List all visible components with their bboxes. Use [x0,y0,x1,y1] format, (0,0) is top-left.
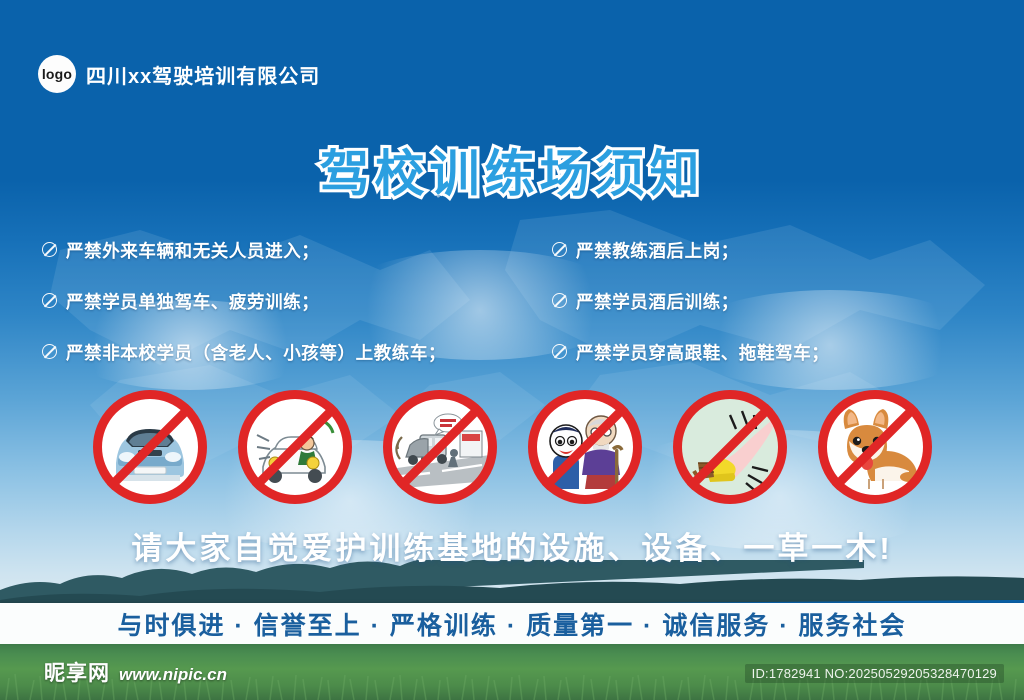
rule-text: 严禁外来车辆和无关人员进入； [66,238,319,263]
watermark-url: www.nipic.cn [119,665,227,685]
company-logo-icon: logo [38,55,76,93]
site-watermark: 昵享网 www.nipic.cn [44,657,227,687]
rule-text: 严禁学员酒后训练； [576,289,739,314]
rule-item: 严禁外来车辆和无关人员进入； [42,238,512,263]
prohibition-mark-icon [552,344,567,359]
company-name: 四川xx驾驶培训有限公司 [86,60,320,89]
rule-text: 严禁学员穿高跟鞋、拖鞋驾车； [576,340,829,365]
rule-item: 严禁学员酒后训练； [552,289,990,314]
prohibition-mark-icon [552,293,567,308]
bottom-banner: 与时俱进 · 信誉至上 · 严格训练 · 质量第一 · 诚信服务 · 服务社会 [0,603,1024,644]
rule-item: 严禁学员单独驾车、疲劳训练； [42,289,512,314]
poster-canvas: logo 四川xx驾驶培训有限公司 驾校训练场须知 严禁外来车辆和无关人员进入；… [0,0,1024,700]
image-id-code: ID:1782941 NO:20250529205328470129 [745,664,1004,683]
rules-column-left: 严禁外来车辆和无关人员进入； 严禁学员单独驾车、疲劳训练； 严禁非本校学员（含老… [34,238,512,391]
banner-slogan: 与时俱进 · 信誉至上 · 严格训练 · 质量第一 · 诚信服务 · 服务社会 [117,606,906,642]
rule-item: 严禁教练酒后上岗； [552,238,990,263]
no-high-heels-icon [671,388,789,506]
prohibition-mark-icon [42,242,57,257]
rule-item: 严禁非本校学员（含老人、小孩等）上教练车； [42,340,512,365]
prohibition-mark-icon [42,344,57,359]
no-pets-icon [816,388,934,506]
rules-column-right: 严禁教练酒后上岗； 严禁学员酒后训练； 严禁学员穿高跟鞋、拖鞋驾车； [512,238,990,391]
prohibition-mark-icon [552,242,567,257]
header-bar: logo 四川xx驾驶培训有限公司 [38,55,320,93]
rule-text: 严禁非本校学员（含老人、小孩等）上教练车； [66,340,446,365]
rule-text: 严禁教练酒后上岗； [576,238,739,263]
page-title-container: 驾校训练场须知 [0,134,1024,206]
no-elderly-children-icon [526,388,644,506]
watermark-brand: 昵享网 [44,657,110,687]
care-slogan: 请大家自觉爱护训练基地的设施、设备、一草一木! [0,523,1024,568]
no-fatigue-training-icon [381,388,499,506]
rule-text: 严禁学员单独驾车、疲劳训练； [66,289,319,314]
prohibition-icons-row [0,388,1024,506]
no-outside-vehicle-icon [91,388,209,506]
rules-section: 严禁外来车辆和无关人员进入； 严禁学员单独驾车、疲劳训练； 严禁非本校学员（含老… [0,238,1024,391]
rule-item: 严禁学员穿高跟鞋、拖鞋驾车； [552,340,990,365]
prohibition-mark-icon [42,293,57,308]
no-solo-driving-icon [236,388,354,506]
page-title: 驾校训练场须知 [320,134,705,206]
